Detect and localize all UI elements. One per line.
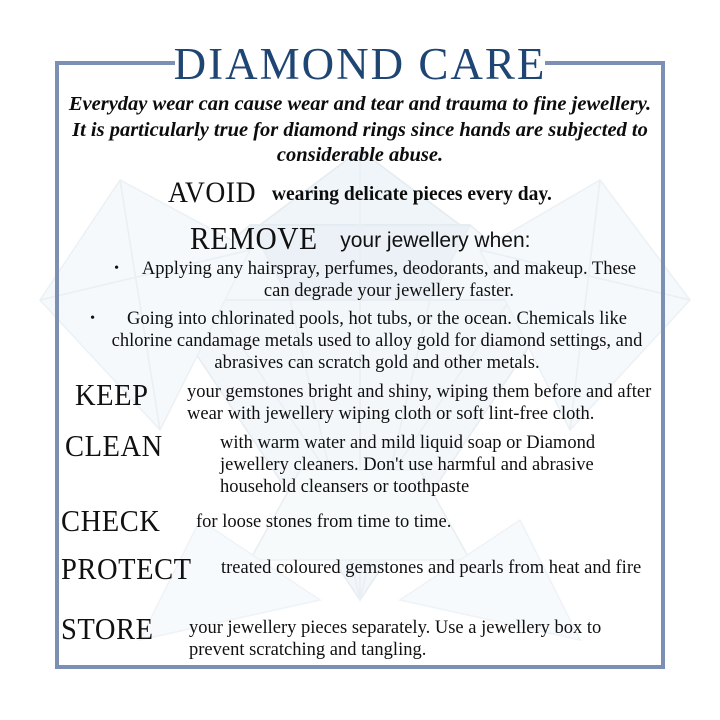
list-item: • Applying any hairspray, perfumes, deod… xyxy=(73,258,649,302)
section-avoid: AVOIDwearing delicate pieces every day. xyxy=(55,176,665,210)
section-clean: CLEAN with warm water and mild liquid so… xyxy=(65,428,665,498)
section-keep-keyword: KEEP xyxy=(75,377,149,413)
poster-content: DIAMOND CARE Everyday wear can cause wea… xyxy=(55,0,665,720)
section-check: CHECK for loose stones from time to time… xyxy=(61,503,661,539)
section-clean-text: with warm water and mild liquid soap or … xyxy=(220,428,665,498)
bullet-dot-icon: • xyxy=(73,308,105,330)
section-keep: KEEP your gemstones bright and shiny, wi… xyxy=(75,377,665,425)
section-keep-keyword-cell: KEEP xyxy=(75,377,187,413)
section-avoid-text: wearing delicate pieces every day. xyxy=(264,184,552,205)
section-store-text: your jewellery pieces separately. Use a … xyxy=(189,611,661,661)
list-item-text: Applying any hairspray, perfumes, deodor… xyxy=(129,258,649,302)
section-clean-keyword-cell: CLEAN xyxy=(65,428,220,464)
section-remove: REMOVEyour jewellery when: xyxy=(55,220,665,257)
section-clean-keyword: CLEAN xyxy=(65,428,163,464)
bullet-dot-icon: • xyxy=(97,258,129,280)
section-check-text: for loose stones from time to time. xyxy=(196,503,661,533)
list-item-text: Going into chlorinated pools, hot tubs, … xyxy=(105,308,649,374)
section-protect-text: treated coloured gemstones and pearls fr… xyxy=(221,551,661,579)
section-store: STORE your jewellery pieces separately. … xyxy=(61,611,661,661)
section-check-keyword: CHECK xyxy=(61,503,160,539)
section-store-keyword-cell: STORE xyxy=(61,611,189,647)
section-store-keyword: STORE xyxy=(61,611,154,647)
section-check-keyword-cell: CHECK xyxy=(61,503,196,539)
section-keep-text: your gemstones bright and shiny, wiping … xyxy=(187,377,665,425)
list-item: • Going into chlorinated pools, hot tubs… xyxy=(73,308,649,374)
diamond-care-poster: DIAMOND CARE Everyday wear can cause wea… xyxy=(0,0,720,720)
section-remove-keyword: REMOVE xyxy=(190,220,318,257)
remove-bullet-list: • Applying any hairspray, perfumes, deod… xyxy=(73,258,649,374)
section-remove-text: your jewellery when: xyxy=(328,229,530,252)
section-protect-keyword-cell: PROTECT xyxy=(61,551,221,587)
section-protect-keyword: PROTECT xyxy=(61,551,192,587)
section-avoid-keyword: AVOID xyxy=(168,176,256,210)
intro-paragraph: Everyday wear can cause wear and tear an… xyxy=(67,92,653,169)
section-protect: PROTECT treated coloured gemstones and p… xyxy=(61,551,661,587)
page-title: DIAMOND CARE xyxy=(55,39,665,89)
